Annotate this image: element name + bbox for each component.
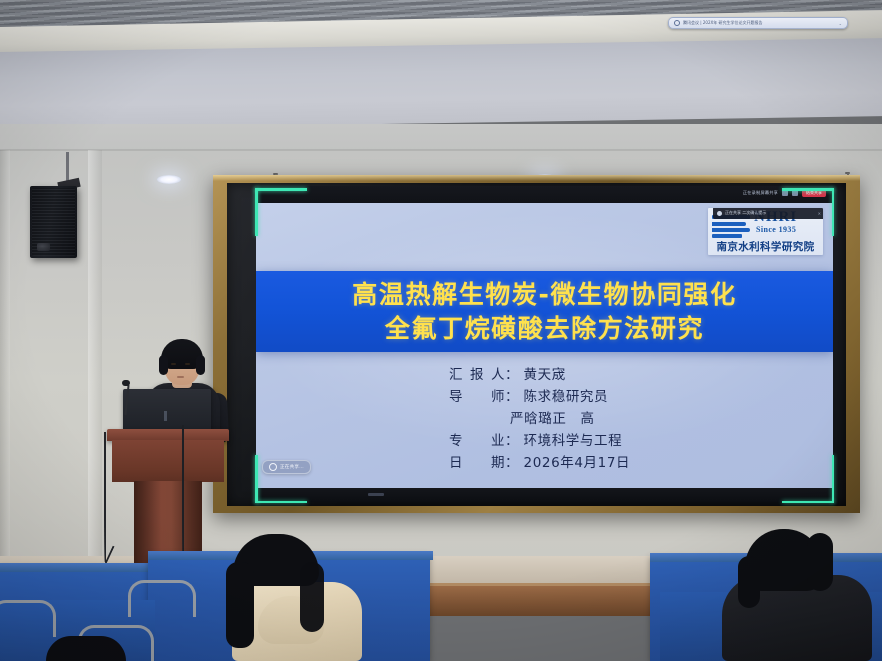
info-label-advisor: 导师 xyxy=(449,391,505,405)
info-circle-icon xyxy=(674,20,680,26)
info-label-major: 专业 xyxy=(449,435,505,449)
corner-bracket-top-left xyxy=(255,188,307,236)
chevron-down-icon[interactable]: ⌄ xyxy=(839,21,842,26)
audience-right-hair-strand xyxy=(738,556,760,608)
wall-speaker xyxy=(30,186,77,258)
wall-trim-edge xyxy=(0,150,10,570)
tooltip-text: 正在共享 二次确认提示 xyxy=(725,210,766,216)
podium-cable-right xyxy=(182,425,184,565)
ceiling-panel xyxy=(0,38,882,130)
info-row-major: 专业 ： 环境科学与工程 xyxy=(449,435,630,449)
chair-back-far-left xyxy=(0,600,56,637)
info-value-advisor2-title: 正 高 xyxy=(552,413,594,427)
corner-bracket-top-right xyxy=(782,188,834,236)
presenter-mouth xyxy=(177,376,184,378)
toolbar-status-label: 正在录制屏幕共享 xyxy=(743,190,778,196)
microphone-head xyxy=(122,380,130,386)
letterbox-marker xyxy=(368,493,384,496)
chair-back-left xyxy=(128,580,196,617)
info-row-advisor: 导师 ： 陈求稳 研究员 xyxy=(449,391,630,405)
audience-center-hair-strand-left xyxy=(226,562,254,648)
ceiling-downlight xyxy=(157,175,181,184)
info-colon: ： xyxy=(505,457,519,471)
info-row-presenter: 汇报人 ： 黄天宬 xyxy=(449,369,630,383)
logo-institute-name: 南京水利科学研究院 xyxy=(710,239,821,254)
presenter-hair xyxy=(161,339,203,369)
tooltip-dot-icon xyxy=(717,211,722,216)
conference-presentation-photo: 正在录制屏幕共享 结束共享 腾讯会议 | 202X年 研究生学位论文开题报告 ⌄… xyxy=(0,0,882,661)
frame-highlight xyxy=(213,175,860,181)
slide-title-band: 高温热解生物炭-微生物协同强化 全氟丁烷磺酸去除方法研究 xyxy=(256,271,833,352)
projected-slide: NHRI Since 1935 南京水利科学研究院 正在共享 二次确认提示 ✕ … xyxy=(256,203,833,488)
audience-front-left-head xyxy=(46,636,126,661)
info-value-advisor2: 严晗璐 xyxy=(510,413,552,427)
info-colon: ： xyxy=(505,391,519,405)
presenter-eye-left xyxy=(171,363,176,365)
screenshare-toolbar: 正在录制屏幕共享 结束共享 xyxy=(256,186,833,204)
info-label-date: 日期 xyxy=(449,457,505,471)
info-colon: ： xyxy=(505,435,519,449)
slide-title-line2: 全氟丁烷磺酸去除方法研究 xyxy=(385,313,704,344)
info-row-date: 日期 ： 2026年4月17日 xyxy=(449,457,630,471)
speaker-grill xyxy=(32,188,75,256)
meeting-title-text: 腾讯会议 | 202X年 研究生学位论文开题报告 xyxy=(683,20,836,26)
meeting-info-pill[interactable]: 腾讯会议 | 202X年 研究生学位论文开题报告 ⌄ xyxy=(668,17,848,29)
slide-title-line1: 高温热解生物炭-微生物协同强化 xyxy=(352,279,736,310)
info-label-presenter: 汇报人 xyxy=(449,369,505,383)
info-value-advisor-title: 研究员 xyxy=(566,391,608,405)
podium-cable-left xyxy=(104,432,106,562)
wall-seam xyxy=(0,149,882,151)
screen-letterbox-bottom xyxy=(256,488,833,502)
audience-right-ponytail xyxy=(807,533,833,591)
corner-bracket-bottom-left xyxy=(255,455,307,503)
podium-body xyxy=(112,440,224,482)
corner-bracket-bottom-right xyxy=(782,455,834,503)
audience-center-hair-strand-right xyxy=(300,562,324,632)
presenter-eye-right xyxy=(185,363,190,365)
info-colon: ： xyxy=(505,369,519,383)
info-value-presenter: 黄天宬 xyxy=(524,369,566,383)
info-value-major: 环境科学与工程 xyxy=(524,435,623,449)
info-value-date: 2026年4月17日 xyxy=(524,457,631,471)
info-value-advisor: 陈求稳 xyxy=(524,391,566,405)
info-row-advisor2: 严晗璐 正 高 xyxy=(510,413,630,427)
wall-trim-left xyxy=(88,150,102,570)
slide-info-block: 汇报人 ： 黄天宬 导师 ： 陈求稳 研究员 严晗璐 正 高 专业 ： 环境科学… xyxy=(449,369,630,479)
